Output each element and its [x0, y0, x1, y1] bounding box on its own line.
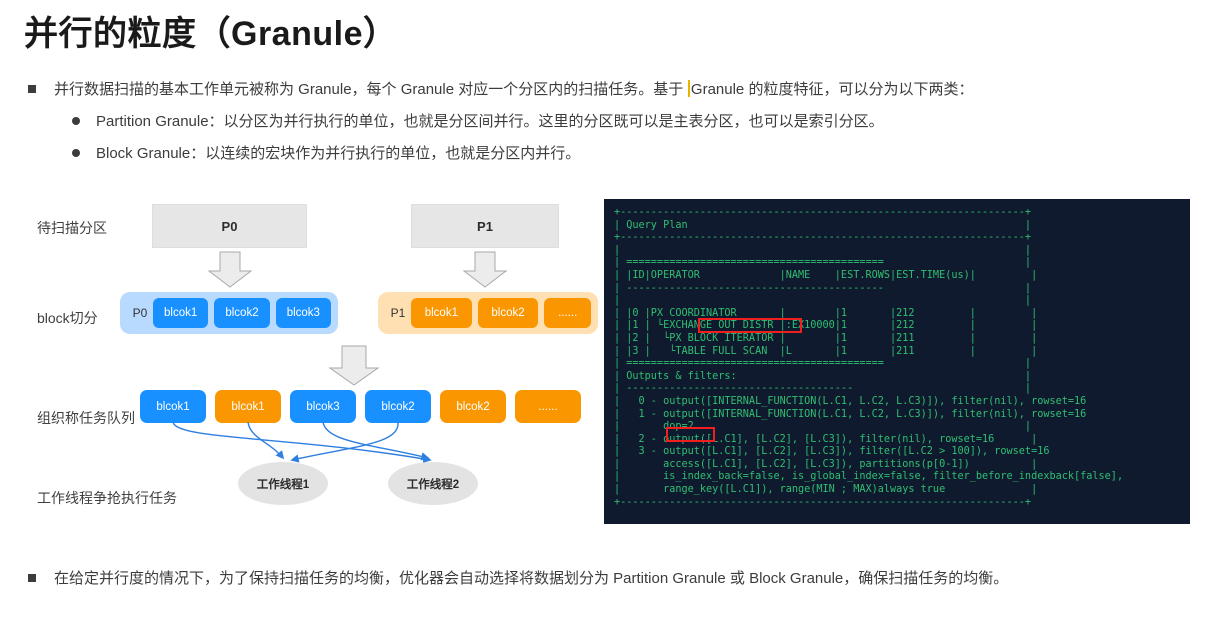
bullet-footer-text: 在给定并行度的情况下，为了保持扫描任务的均衡，优化器会自动选择将数据划分为 Pa…: [54, 565, 1008, 594]
fat-arrow-down-p0: [198, 251, 262, 289]
queue-item: blcok1: [140, 390, 206, 423]
row-label-block-split: block切分: [37, 308, 98, 328]
partition-box-p1: P1: [411, 204, 559, 248]
split-strip-p1: P1 blcok1 blcok2 ......: [378, 292, 598, 334]
dispatch-arrows: [140, 420, 600, 480]
row-label-partitions: 待扫描分区: [37, 218, 107, 238]
block-chip: blcok1: [153, 298, 208, 328]
bullet-main: 并行数据扫描的基本工作单元被称为 Granule，每个 Granule 对应一个…: [28, 79, 973, 101]
queue-item: blcok3: [290, 390, 356, 423]
block-chip: blcok1: [411, 298, 472, 328]
fat-arrow-down-p1: [453, 251, 517, 289]
query-plan-text: +---------------------------------------…: [614, 207, 1180, 509]
split-strip-p1-tag: P1: [385, 306, 411, 320]
slide-root: 并行的粒度（Granule） 并行数据扫描的基本工作单元被称为 Granule，…: [0, 0, 1208, 632]
queue-item: ......: [515, 390, 581, 423]
granule-diagram: 待扫描分区 block切分 组织称任务队列 工作线程争抢执行任务 P0 P1 P…: [0, 190, 600, 530]
partition-box-p0: P0: [152, 204, 307, 248]
block-chip: blcok2: [478, 298, 539, 328]
bullet-block-granule: Block Granule：以连续的宏块作为并行执行的单位，也就是分区内并行。: [72, 143, 580, 165]
queue-item: blcok2: [440, 390, 506, 423]
queue-item: blcok1: [215, 390, 281, 423]
task-queue: blcok1 blcok1 blcok3 blcok2 blcok2 .....…: [140, 390, 600, 424]
square-bullet-icon: [28, 85, 36, 93]
dot-bullet-icon: [72, 149, 80, 157]
worker-thread-2: 工作线程2: [388, 462, 478, 505]
page-title: 并行的粒度（Granule）: [24, 6, 397, 55]
worker-thread-1: 工作线程1: [238, 462, 328, 505]
square-bullet-icon: [28, 574, 36, 582]
dot-bullet-icon: [72, 117, 80, 125]
row-label-task-queue: 组织称任务队列: [37, 408, 135, 428]
queue-item: blcok2: [365, 390, 431, 423]
fat-arrow-down-queue: [318, 345, 390, 387]
bullet-main-text: 并行数据扫描的基本工作单元被称为 Granule，每个 Granule 对应一个…: [54, 79, 973, 101]
text-caret: [688, 80, 690, 97]
bullet-partition-granule-text: Partition Granule：以分区为并行执行的单位，也就是分区间并行。这…: [96, 111, 884, 133]
block-chip: ......: [544, 298, 591, 328]
block-chip: blcok3: [276, 298, 331, 328]
row-label-worker-threads: 工作线程争抢执行任务: [37, 488, 177, 508]
block-chip: blcok2: [214, 298, 269, 328]
query-plan-terminal: +---------------------------------------…: [604, 199, 1190, 524]
bullet-partition-granule: Partition Granule：以分区为并行执行的单位，也就是分区间并行。这…: [72, 111, 884, 133]
bullet-block-granule-text: Block Granule：以连续的宏块作为并行执行的单位，也就是分区内并行。: [96, 143, 580, 165]
split-strip-p0-tag: P0: [127, 306, 153, 320]
bullet-footer: 在给定并行度的情况下，为了保持扫描任务的均衡，优化器会自动选择将数据划分为 Pa…: [28, 565, 1188, 594]
split-strip-p0: P0 blcok1 blcok2 blcok3: [120, 292, 338, 334]
